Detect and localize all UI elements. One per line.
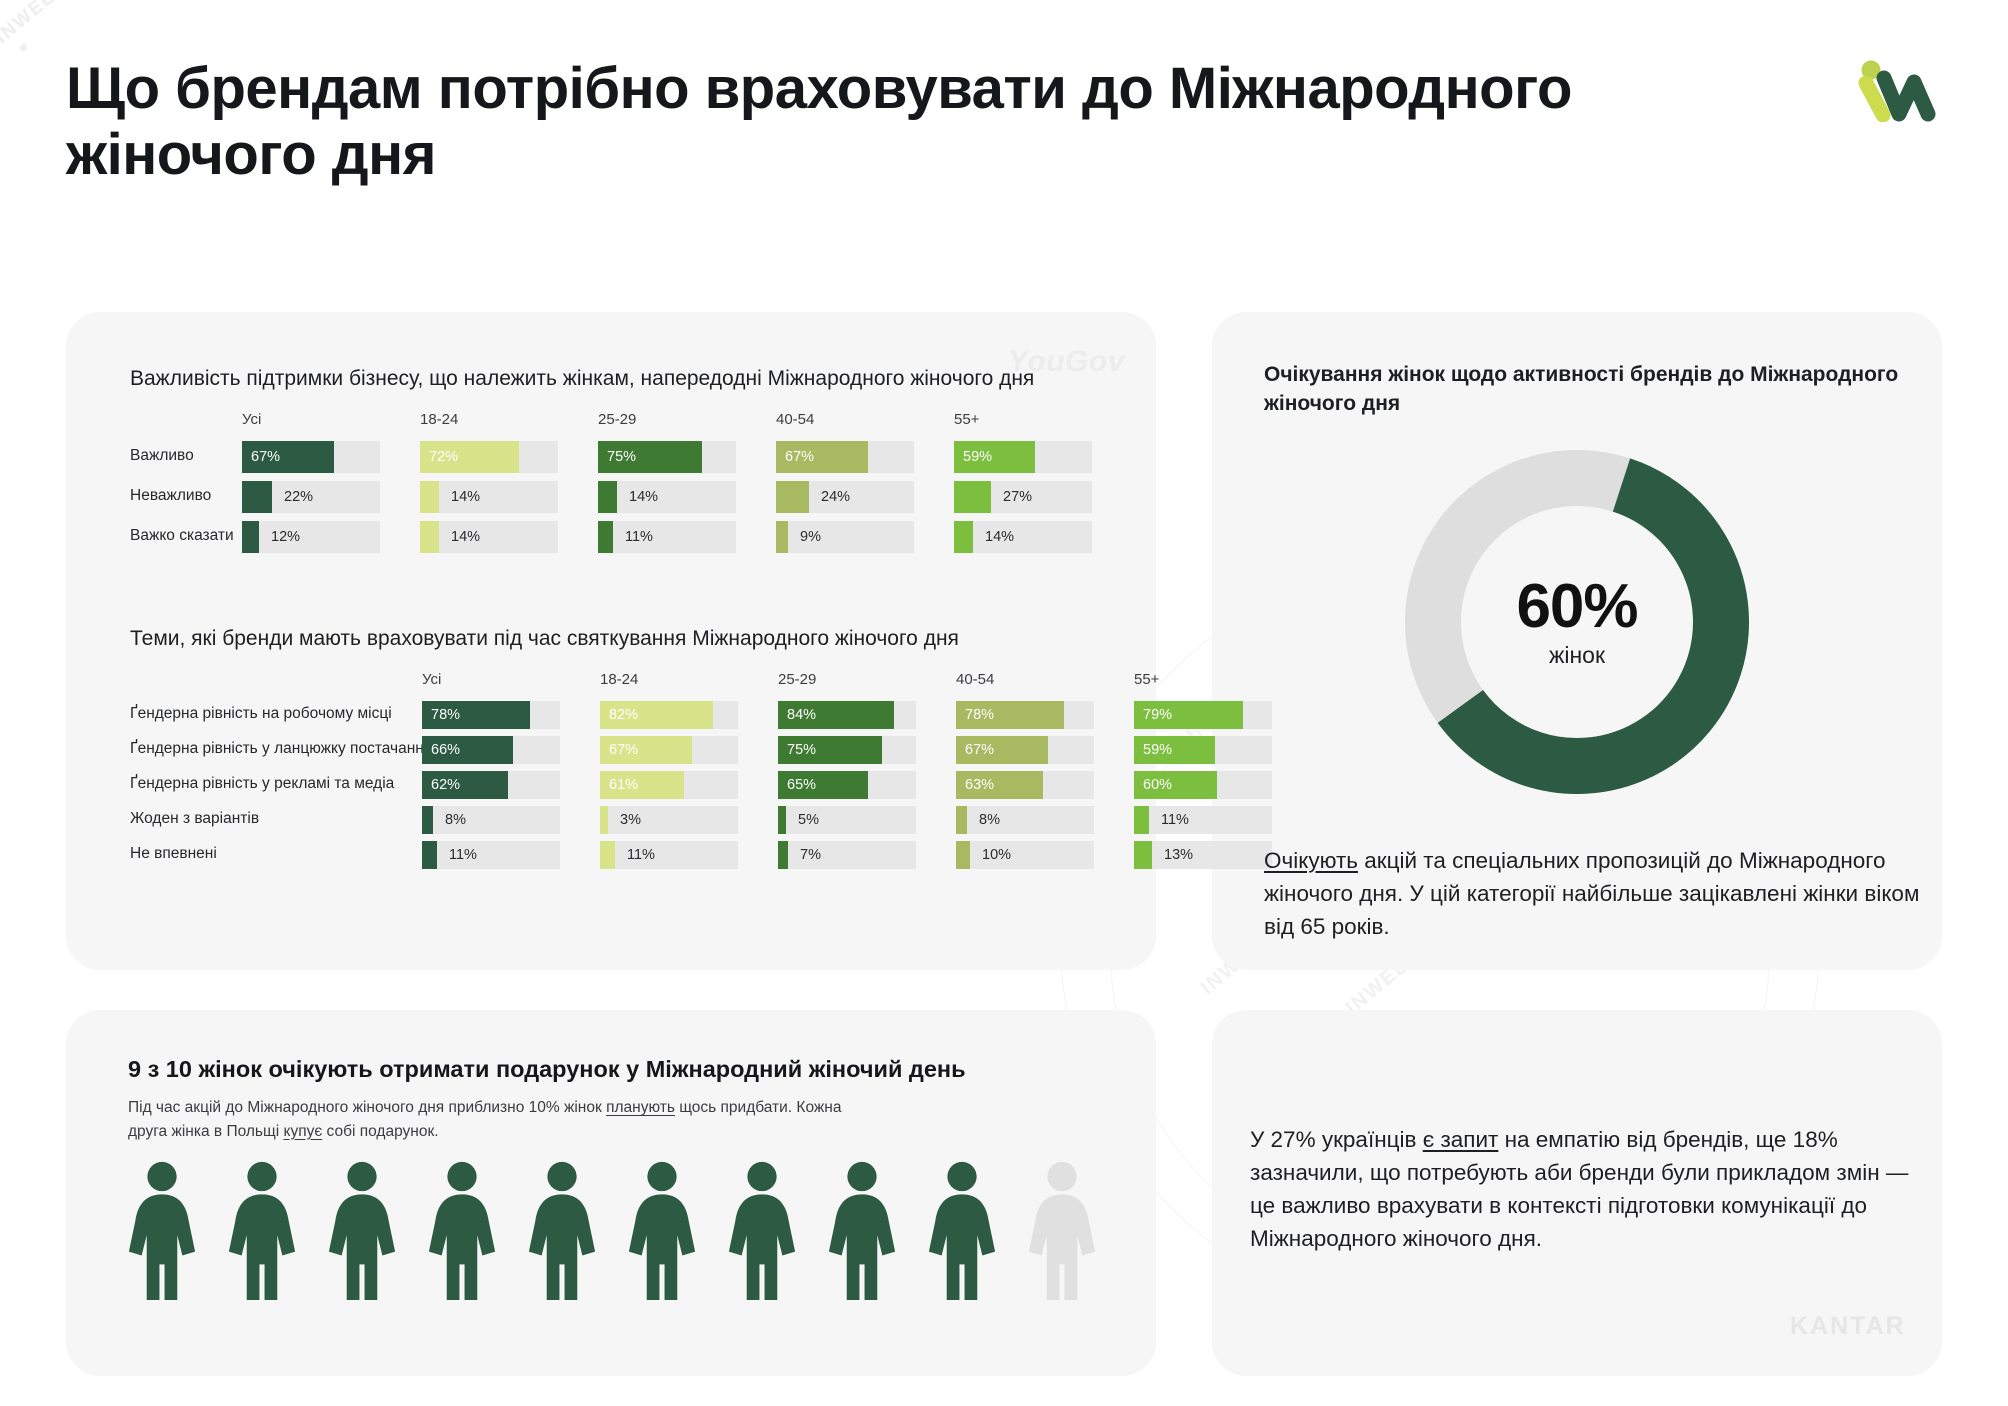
donut-sublabel: жінок xyxy=(1549,642,1605,669)
bar-cell: 11% xyxy=(598,521,736,553)
bar-cell: 67% xyxy=(956,736,1094,764)
bar-value-label: 66% xyxy=(431,742,460,758)
chart-row: Важко сказати12%14%11%9%14% xyxy=(130,521,1110,553)
bar-value-label: 84% xyxy=(787,707,816,723)
bar-fill xyxy=(420,521,439,553)
bar-value-label: 14% xyxy=(629,489,658,505)
bar-cell: 14% xyxy=(598,481,736,513)
people-sub-link1[interactable]: планують xyxy=(606,1099,675,1116)
people-sub-part1: Під час акцій до Міжнародного жіночого д… xyxy=(128,1099,606,1116)
chart-row: Ґендерна рівність у ланцюжку постачання6… xyxy=(130,736,1110,764)
bar-cell: 84% xyxy=(778,701,916,729)
chart-row: Не впевнені11%11%7%10%13% xyxy=(130,841,1110,869)
column-header-55+: 55+ xyxy=(1134,671,1159,688)
donut-text-link[interactable]: Очікують xyxy=(1264,848,1358,873)
bar-value-label: 61% xyxy=(609,777,638,793)
bar-value-label: 5% xyxy=(798,812,819,828)
bar-value-label: 14% xyxy=(451,489,480,505)
bar-value-label: 72% xyxy=(429,449,458,465)
row-label: Жоден з варіантів xyxy=(130,810,259,828)
bar-track xyxy=(956,806,1094,834)
bar-cell: 14% xyxy=(420,481,558,513)
bar-cell: 11% xyxy=(1134,806,1272,834)
person-icon-filled xyxy=(726,1160,798,1340)
person-icon-filled xyxy=(226,1160,298,1340)
bar-fill xyxy=(242,521,259,553)
inweb-logo xyxy=(1854,52,1946,122)
bar-cell: 12% xyxy=(242,521,380,553)
bar-cell: 67% xyxy=(776,441,914,473)
bar-fill xyxy=(422,841,437,869)
column-headers: Усі18-2425-2940-5455+ xyxy=(130,411,1110,441)
bar-value-label: 8% xyxy=(445,812,466,828)
bar-fill xyxy=(420,481,439,513)
column-header-40-54: 40-54 xyxy=(776,411,814,428)
bar-cell: 78% xyxy=(956,701,1094,729)
person-icon-filled xyxy=(126,1160,198,1340)
donut-center-label: 60% жінок xyxy=(1395,440,1759,804)
person-icon-filled xyxy=(626,1160,698,1340)
bar-cell: 11% xyxy=(600,841,738,869)
bar-cell: 27% xyxy=(954,481,1092,513)
bar-cell: 14% xyxy=(954,521,1092,553)
bar-fill xyxy=(954,481,991,513)
bar-value-label: 67% xyxy=(251,449,280,465)
person-icon-muted xyxy=(1026,1160,1098,1340)
person-icon-filled xyxy=(926,1160,998,1340)
bar-value-label: 75% xyxy=(787,742,816,758)
column-header-55+: 55+ xyxy=(954,411,979,428)
bar-fill xyxy=(956,841,970,869)
bar-value-label: 63% xyxy=(965,777,994,793)
donut-chart: 60% жінок xyxy=(1395,440,1759,804)
person-icon-filled xyxy=(426,1160,498,1340)
bar-value-label: 78% xyxy=(965,707,994,723)
bar-cell: 8% xyxy=(422,806,560,834)
bar-cell: 7% xyxy=(778,841,916,869)
bar-track xyxy=(1134,806,1272,834)
bar-cell: 75% xyxy=(778,736,916,764)
bar-cell: 60% xyxy=(1134,771,1272,799)
bar-value-label: 78% xyxy=(431,707,460,723)
bar-value-label: 14% xyxy=(985,529,1014,545)
row-label: Неважливо xyxy=(130,487,211,505)
row-label: Ґендерна рівність на робочому місці xyxy=(130,705,392,723)
bar-value-label: 9% xyxy=(800,529,821,545)
watermark-inweb-top-left: INWEB xyxy=(0,0,62,49)
bar-cell: 66% xyxy=(422,736,560,764)
bar-fill xyxy=(956,806,967,834)
bar-value-label: 59% xyxy=(963,449,992,465)
donut-text-rest: акцій та спеціальних пропозицій до Міжна… xyxy=(1264,848,1919,939)
bar-cell: 59% xyxy=(1134,736,1272,764)
bar-cell: 63% xyxy=(956,771,1094,799)
note-panel-text: У 27% українців є запит на емпатію від б… xyxy=(1250,1124,1930,1255)
bar-value-label: 3% xyxy=(620,812,641,828)
bar-track xyxy=(954,521,1092,553)
chart-importance-grid: Усі18-2425-2940-5455+Важливо67%72%75%67%… xyxy=(130,411,1110,553)
bar-track xyxy=(598,521,736,553)
chart-row: Важливо67%72%75%67%59% xyxy=(130,441,1110,473)
bar-value-label: 12% xyxy=(271,529,300,545)
bar-value-label: 82% xyxy=(609,707,638,723)
bar-fill xyxy=(1134,841,1152,869)
bar-value-label: 67% xyxy=(785,449,814,465)
row-label: Ґендерна рівність у ланцюжку постачання xyxy=(130,740,432,758)
bar-track xyxy=(420,521,558,553)
bar-fill xyxy=(778,806,786,834)
bar-cell: 62% xyxy=(422,771,560,799)
bar-cell: 14% xyxy=(420,521,558,553)
infographic-page: INWEB INWEB INWEB INWEB INWEB Що брендам… xyxy=(0,0,2008,1406)
bar-cell: 78% xyxy=(422,701,560,729)
person-icon-filled xyxy=(326,1160,398,1340)
note-part1: У 27% українців xyxy=(1250,1127,1423,1152)
people-sub-link2[interactable]: купує xyxy=(283,1123,322,1140)
column-header-25-29: 25-29 xyxy=(778,671,816,688)
bar-track xyxy=(776,521,914,553)
bar-cell: 67% xyxy=(242,441,380,473)
bar-value-label: 13% xyxy=(1164,847,1193,863)
bar-fill xyxy=(242,481,272,513)
bar-fill xyxy=(600,806,608,834)
bar-fill xyxy=(598,521,613,553)
bar-value-label: 67% xyxy=(965,742,994,758)
bar-value-label: 8% xyxy=(979,812,1000,828)
bar-track xyxy=(600,841,738,869)
chart-row: Неважливо22%14%14%24%27% xyxy=(130,481,1110,513)
bar-value-label: 79% xyxy=(1143,707,1172,723)
bar-value-label: 62% xyxy=(431,777,460,793)
bar-track xyxy=(422,841,560,869)
bar-value-label: 59% xyxy=(1143,742,1172,758)
bar-value-label: 27% xyxy=(1003,489,1032,505)
chart-row: Ґендерна рівність у рекламі та медіа62%6… xyxy=(130,771,1110,799)
bar-fill xyxy=(422,806,433,834)
kantar-watermark: KANTAR xyxy=(1790,1312,1906,1341)
bar-track xyxy=(242,521,380,553)
bar-track xyxy=(422,806,560,834)
person-icon-filled xyxy=(826,1160,898,1340)
bar-value-label: 24% xyxy=(821,489,850,505)
bar-value-label: 60% xyxy=(1143,777,1172,793)
chart-themes-title: Теми, які бренди мають враховувати під ч… xyxy=(130,624,1110,653)
bar-value-label: 75% xyxy=(607,449,636,465)
column-header-18-24: 18-24 xyxy=(600,671,638,688)
bar-track xyxy=(956,841,1094,869)
bar-cell: 22% xyxy=(242,481,380,513)
bar-cell: 72% xyxy=(420,441,558,473)
bar-fill xyxy=(1134,806,1149,834)
bar-fill xyxy=(776,521,788,553)
bar-track xyxy=(598,481,736,513)
bar-cell: 11% xyxy=(422,841,560,869)
row-label: Ґендерна рівність у рекламі та медіа xyxy=(130,775,394,793)
donut-panel-title: Очікування жінок щодо активності брендів… xyxy=(1264,360,1904,419)
bar-cell: 59% xyxy=(954,441,1092,473)
bar-value-label: 67% xyxy=(609,742,638,758)
bar-value-label: 10% xyxy=(982,847,1011,863)
bar-cell: 75% xyxy=(598,441,736,473)
column-headers: Усі18-2425-2940-5455+ xyxy=(130,671,1110,701)
bar-value-label: 7% xyxy=(800,847,821,863)
note-link[interactable]: є запит xyxy=(1423,1127,1499,1152)
donut-value: 60% xyxy=(1516,576,1637,638)
bar-value-label: 65% xyxy=(787,777,816,793)
watermark-dot xyxy=(20,44,27,51)
bar-value-label: 11% xyxy=(449,847,477,863)
row-label: Важливо xyxy=(130,447,194,465)
chart-importance-title: Важливість підтримки бізнесу, що належит… xyxy=(130,364,1110,393)
column-header--: Усі xyxy=(242,411,261,428)
page-title: Що брендам потрібно враховувати до Міжна… xyxy=(66,56,1726,188)
column-header-25-29: 25-29 xyxy=(598,411,636,428)
bar-fill xyxy=(600,841,615,869)
column-header-40-54: 40-54 xyxy=(956,671,994,688)
chart-row: Ґендерна рівність на робочому місці78%82… xyxy=(130,701,1110,729)
chart-row: Жоден з варіантів8%3%5%8%11% xyxy=(130,806,1110,834)
bar-fill xyxy=(598,481,617,513)
bar-fill xyxy=(778,841,788,869)
bar-cell: 65% xyxy=(778,771,916,799)
chart-importance: Важливість підтримки бізнесу, що належит… xyxy=(130,364,1110,561)
people-panel-subtitle: Під час акцій до Міжнародного жіночого д… xyxy=(128,1096,848,1143)
bar-cell: 67% xyxy=(600,736,738,764)
bar-value-label: 11% xyxy=(625,529,653,545)
chart-themes-grid: Усі18-2425-2940-5455+Ґендерна рівність н… xyxy=(130,671,1110,869)
chart-themes: Теми, які бренди мають враховувати під ч… xyxy=(130,624,1110,876)
bar-fill xyxy=(776,481,809,513)
bar-track xyxy=(1134,841,1272,869)
bar-value-label: 22% xyxy=(284,489,313,505)
person-icon-filled xyxy=(526,1160,598,1340)
bar-cell: 13% xyxy=(1134,841,1272,869)
row-label: Не впевнені xyxy=(130,845,217,863)
bar-cell: 82% xyxy=(600,701,738,729)
bar-cell: 3% xyxy=(600,806,738,834)
bar-value-label: 11% xyxy=(627,847,655,863)
bar-value-label: 14% xyxy=(451,529,480,545)
people-figures-row xyxy=(126,1160,1126,1340)
bar-track xyxy=(420,481,558,513)
people-panel-title: 9 з 10 жінок очікують отримати подарунок… xyxy=(128,1056,1088,1083)
column-header-18-24: 18-24 xyxy=(420,411,458,428)
bar-cell: 9% xyxy=(776,521,914,553)
bar-value-label: 11% xyxy=(1161,812,1189,828)
row-label: Важко сказати xyxy=(130,527,234,545)
column-header--: Усі xyxy=(422,671,441,688)
bar-cell: 24% xyxy=(776,481,914,513)
bar-cell: 5% xyxy=(778,806,916,834)
people-sub-part3: собі подарунок. xyxy=(322,1123,438,1140)
bar-fill xyxy=(954,521,973,553)
bar-cell: 10% xyxy=(956,841,1094,869)
bar-cell: 61% xyxy=(600,771,738,799)
bar-cell: 79% xyxy=(1134,701,1272,729)
donut-panel-text: Очікують акцій та спеціальних пропозицій… xyxy=(1264,845,1924,944)
bar-cell: 8% xyxy=(956,806,1094,834)
bar-track xyxy=(778,841,916,869)
